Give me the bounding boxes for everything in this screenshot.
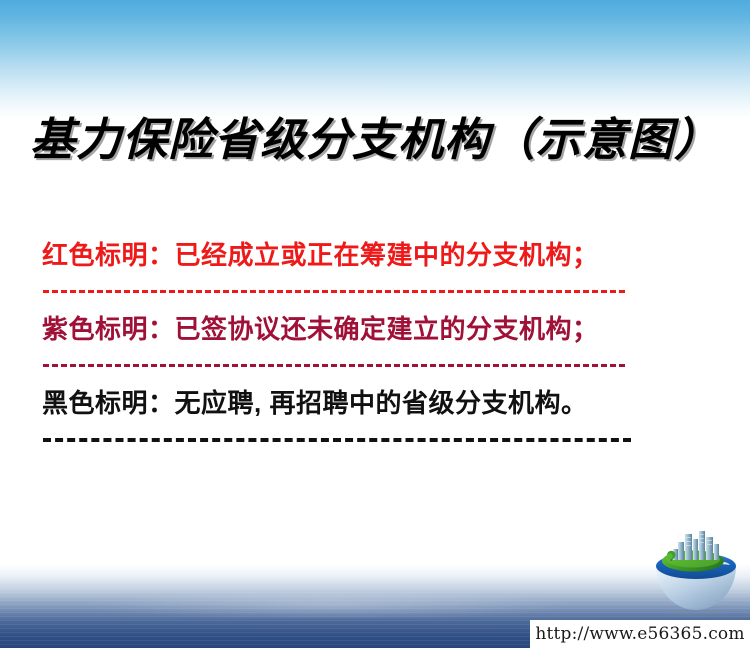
- legend-row-red: 红色标明：已经成立或正在筹建中的分支机构；: [42, 238, 662, 272]
- slide-canvas: 基力保险省级分支机构（示意图） 红色标明：已经成立或正在筹建中的分支机构； 紫色…: [0, 0, 750, 648]
- page-title: 基力保险省级分支机构（示意图）: [0, 103, 750, 168]
- legend-separator-red: [42, 284, 662, 298]
- spacer: [42, 272, 662, 284]
- earth-globe-city-icon: [648, 528, 744, 620]
- legend-row-purple: 紫色标明：已签协议还未确定建立的分支机构；: [42, 312, 662, 346]
- legend-block: 红色标明：已经成立或正在筹建中的分支机构； 紫色标明：已签协议还未确定建立的分支…: [42, 238, 662, 446]
- legend-separator-purple: [42, 358, 662, 372]
- water-highlight-sheen: [0, 592, 750, 618]
- legend-separator-black: [42, 432, 662, 446]
- city-skyline: [673, 531, 719, 560]
- sky-gradient-background: [0, 0, 750, 118]
- spacer: [42, 298, 662, 312]
- watermark-badge: http://www.e56365.com: [530, 620, 750, 648]
- spacer: [42, 372, 662, 386]
- logo-container: [648, 528, 744, 620]
- watermark-url: http://www.e56365.com: [535, 624, 744, 644]
- logo-drop-shadow: [658, 608, 732, 617]
- spacer: [42, 420, 662, 432]
- spacer: [42, 346, 662, 358]
- legend-row-black: 黑色标明：无应聘, 再招聘中的省级分支机构。: [42, 386, 662, 420]
